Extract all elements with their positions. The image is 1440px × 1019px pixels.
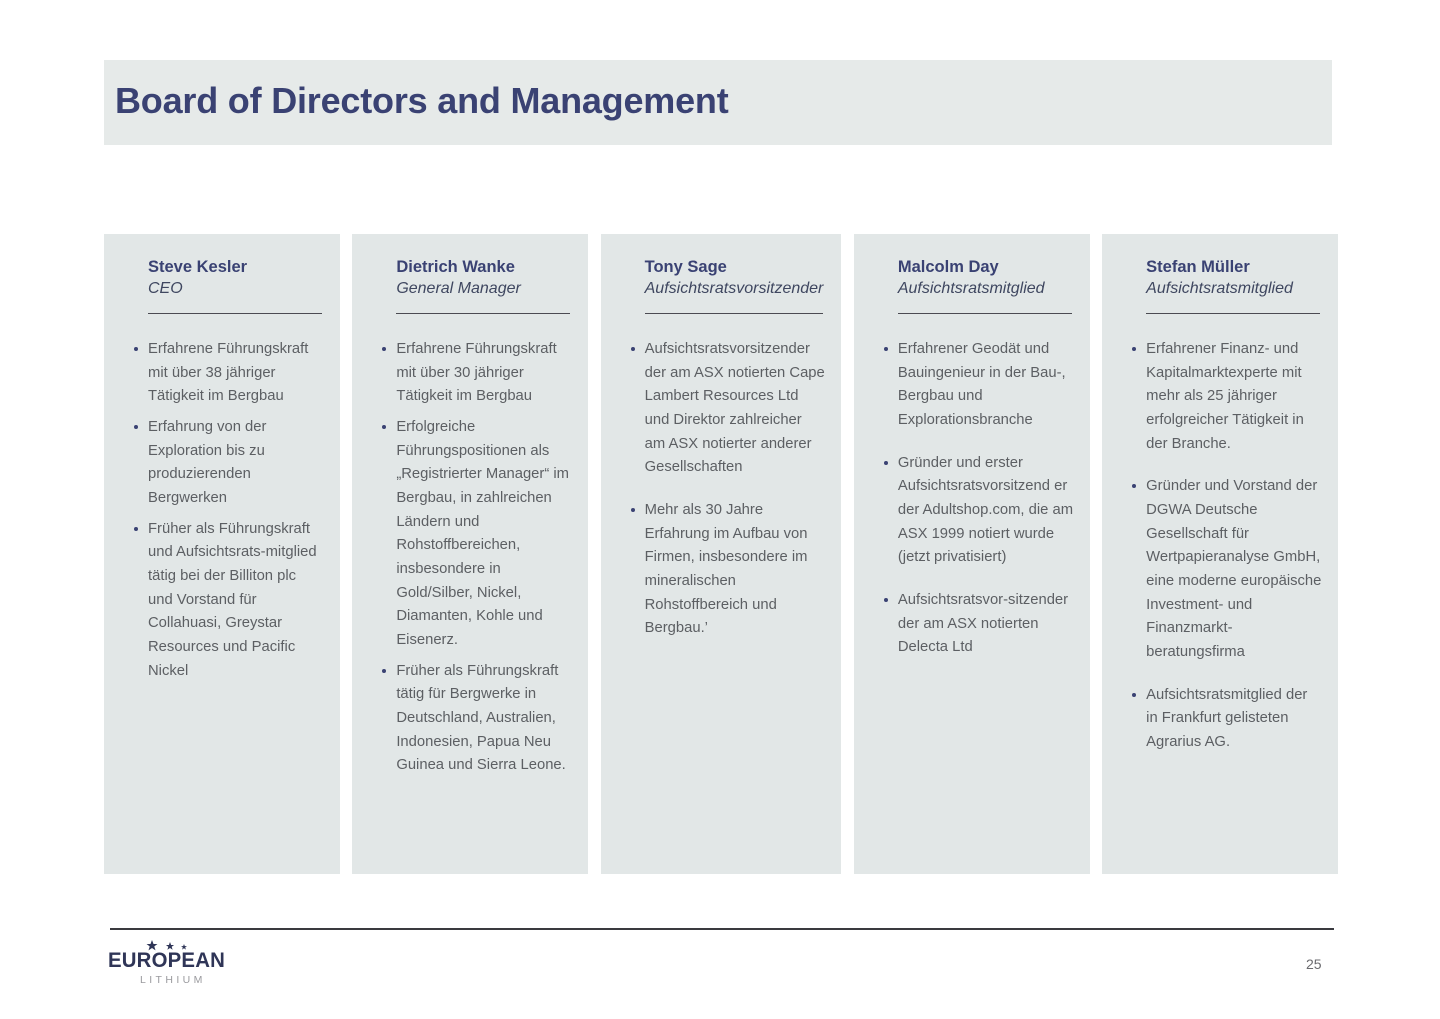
european-lithium-logo: EUROPEAN LITHIUM bbox=[108, 938, 248, 992]
person-bullet-list: Erfahrene Führungskraft mit über 30 jähr… bbox=[368, 338, 572, 778]
logo-subtitle: LITHIUM bbox=[140, 974, 206, 986]
page-title: Board of Directors and Management bbox=[115, 80, 729, 122]
person-role: CEO bbox=[148, 279, 322, 300]
person-name: Dietrich Wanke bbox=[396, 257, 570, 278]
header-divider bbox=[898, 313, 1072, 314]
person-card-stefan-mueller: Stefan Müller Aufsichtsratsmitglied Erfa… bbox=[1102, 234, 1338, 874]
header-divider bbox=[148, 313, 322, 314]
person-role: Aufsichtsratsmitglied bbox=[898, 279, 1072, 300]
person-role: Aufsichtsratsmitglied bbox=[1146, 279, 1320, 300]
list-item: Früher als Führungskraft und Aufsichtsra… bbox=[132, 518, 324, 684]
header-divider bbox=[645, 313, 824, 314]
person-bullet-list: Erfahrene Führungskraft mit über 38 jähr… bbox=[120, 338, 324, 683]
list-item: Gründer und Vorstand der DGWA Deutsche G… bbox=[1130, 475, 1322, 664]
list-item: Aufsichtsratsvor-sitzender der am ASX no… bbox=[882, 589, 1074, 660]
list-item: Erfolgreiche Führungspositionen als „Reg… bbox=[380, 416, 572, 653]
logo-wordmark: EUROPEAN bbox=[108, 949, 225, 973]
person-name: Malcolm Day bbox=[898, 257, 1072, 278]
person-role: Aufsichtsratsvorsitzender bbox=[645, 279, 824, 300]
person-name: Tony Sage bbox=[645, 257, 824, 278]
header-divider bbox=[396, 313, 570, 314]
person-name: Stefan Müller bbox=[1146, 257, 1320, 278]
list-item: Erfahrener Geodät und Bauingenieur in de… bbox=[882, 338, 1074, 433]
list-item: Aufsichtsratsvorsitzender der am ASX not… bbox=[629, 338, 826, 480]
person-bullet-list: Aufsichtsratsvorsitzender der am ASX not… bbox=[617, 338, 826, 641]
list-item: Mehr als 30 Jahre Erfahrung im Aufbau vo… bbox=[629, 499, 826, 641]
person-card-dietrich-wanke: Dietrich Wanke General Manager Erfahrene… bbox=[352, 234, 588, 874]
person-bullet-list: Erfahrener Geodät und Bauingenieur in de… bbox=[870, 338, 1074, 660]
list-item: Gründer und erster Aufsichtsratsvorsitze… bbox=[882, 452, 1074, 570]
list-item: Erfahrener Finanz- und Kapitalmarktexper… bbox=[1130, 338, 1322, 456]
list-item: Erfahrene Führungskraft mit über 30 jähr… bbox=[380, 338, 572, 409]
person-bullet-list: Erfahrener Finanz- und Kapitalmarktexper… bbox=[1118, 338, 1322, 755]
header-divider bbox=[1146, 313, 1320, 314]
list-item: Früher als Führungskraft tätig für Bergw… bbox=[380, 660, 572, 778]
people-columns: Steve Kesler CEO Erfahrene Führungskraft… bbox=[104, 234, 1338, 874]
person-header: Dietrich Wanke General Manager bbox=[368, 257, 572, 300]
person-card-tony-sage: Tony Sage Aufsichtsratsvorsitzender Aufs… bbox=[601, 234, 842, 874]
footer-divider bbox=[110, 928, 1334, 930]
person-card-steve-kesler: Steve Kesler CEO Erfahrene Führungskraft… bbox=[104, 234, 340, 874]
person-header: Steve Kesler CEO bbox=[120, 257, 324, 300]
person-card-malcolm-day: Malcolm Day Aufsichtsratsmitglied Erfahr… bbox=[854, 234, 1090, 874]
list-item: Erfahrene Führungskraft mit über 38 jähr… bbox=[132, 338, 324, 409]
page-number: 25 bbox=[1306, 956, 1322, 972]
person-name: Steve Kesler bbox=[148, 257, 322, 278]
slide-title-bar: Board of Directors and Management bbox=[104, 60, 1332, 145]
list-item: Erfahrung von der Exploration bis zu pro… bbox=[132, 416, 324, 511]
person-header: Malcolm Day Aufsichtsratsmitglied bbox=[870, 257, 1074, 300]
person-role: General Manager bbox=[396, 279, 570, 300]
person-header: Tony Sage Aufsichtsratsvorsitzender bbox=[617, 257, 826, 300]
list-item: Aufsichtsratsmitglied der in Frankfurt g… bbox=[1130, 684, 1322, 755]
person-header: Stefan Müller Aufsichtsratsmitglied bbox=[1118, 257, 1322, 300]
